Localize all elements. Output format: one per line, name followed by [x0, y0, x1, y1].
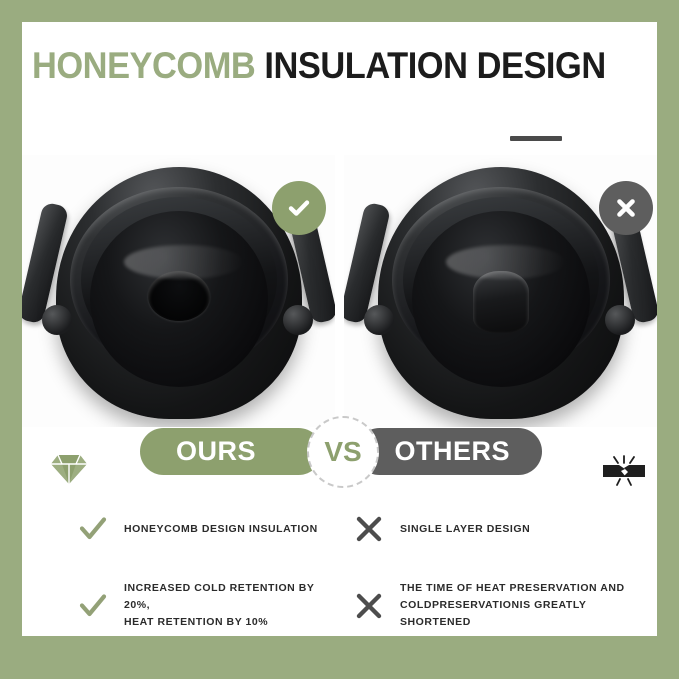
product-photo-others	[344, 155, 657, 427]
feature-line: HEAT RETENTION BY 10%	[124, 616, 268, 628]
title-highlight: HONEYCOMB	[32, 45, 255, 86]
feature-item: THE TIME OF HEAT PRESERVATION AND COLDPR…	[354, 580, 654, 631]
feature-line: INCREASED COLD RETENTION BY 20%,	[124, 582, 314, 611]
feature-item: INCREASED COLD RETENTION BY 20%, HEAT RE…	[78, 580, 340, 631]
infographic-page: HONEYCOMB INSULATION DESIGN	[0, 0, 679, 679]
infographic-canvas: HONEYCOMB INSULATION DESIGN	[22, 22, 657, 636]
feature-text: THE TIME OF HEAT PRESERVATION AND COLDPR…	[400, 580, 654, 631]
feature-line: HONEYCOMB DESIGN INSULATION	[124, 523, 318, 535]
title-rest: INSULATION DESIGN	[255, 45, 605, 86]
pot-lid	[412, 211, 590, 387]
page-title: HONEYCOMB INSULATION DESIGN	[32, 44, 609, 88]
pot-handle-joint-right	[605, 305, 635, 335]
check-icon	[78, 514, 108, 544]
title-divider	[510, 136, 562, 141]
pot-gloss-highlight	[446, 245, 566, 279]
feature-line: COLDPRESERVATIONIS GREATLY SHORTENED	[400, 599, 586, 628]
feature-line: THE TIME OF HEAT PRESERVATION AND	[400, 582, 625, 594]
product-photo-ours	[22, 155, 335, 427]
x-icon	[354, 514, 384, 544]
feature-text: SINGLE LAYER DESIGN	[400, 521, 530, 538]
pot-handle-joint-right	[283, 305, 313, 335]
feature-text: INCREASED COLD RETENTION BY 20%, HEAT RE…	[124, 580, 340, 631]
shatter-icon	[602, 454, 646, 493]
check-icon	[78, 591, 108, 621]
x-icon	[354, 591, 384, 621]
pot-body	[56, 167, 302, 419]
pot-body	[378, 167, 624, 419]
feature-line: SINGLE LAYER DESIGN	[400, 523, 530, 535]
pot-handle-joint-left	[364, 305, 394, 335]
pot-lid	[90, 211, 268, 387]
feature-text: HONEYCOMB DESIGN INSULATION	[124, 521, 318, 538]
diamond-icon	[50, 452, 88, 491]
feature-item: HONEYCOMB DESIGN INSULATION	[78, 514, 340, 544]
pot-lid-knob	[473, 271, 529, 333]
product-photo-row	[22, 155, 657, 427]
feature-item: SINGLE LAYER DESIGN	[354, 514, 654, 544]
check-circle-icon	[272, 181, 326, 235]
pot-gloss-highlight	[124, 245, 244, 279]
pot-handle-joint-left	[42, 305, 72, 335]
versus-badge: VS	[307, 416, 379, 488]
cross-circle-icon	[599, 181, 653, 235]
